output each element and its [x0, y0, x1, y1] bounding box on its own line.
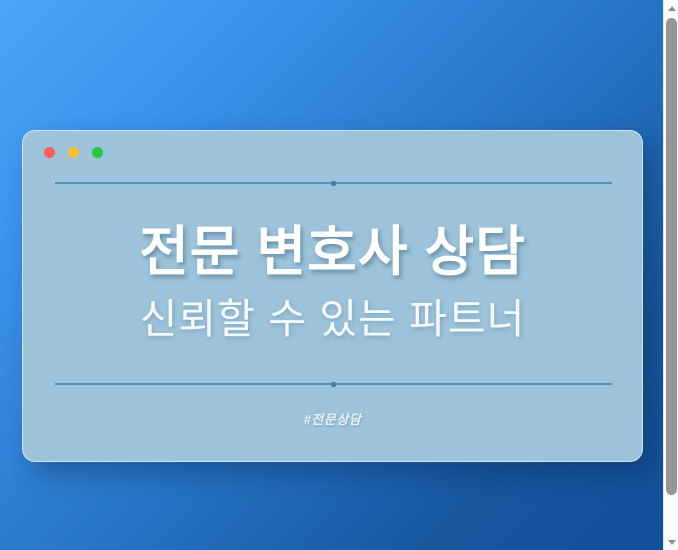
close-button-icon[interactable] — [44, 147, 55, 158]
divider-dot-icon — [331, 382, 336, 387]
vertical-scrollbar[interactable] — [663, 0, 678, 550]
scrollbar-thumb[interactable] — [666, 18, 677, 495]
page-viewport: 전문 변호사 상담 신뢰할 수 있는 파트너 #전문상담 — [0, 0, 678, 550]
browser-window-card: 전문 변호사 상담 신뢰할 수 있는 파트너 #전문상담 — [22, 130, 643, 462]
scroll-up-arrow-icon[interactable] — [664, 0, 678, 16]
page-title: 전문 변호사 상담 — [139, 223, 526, 281]
hashtag-label: #전문상담 — [23, 409, 642, 428]
page-subtitle: 신뢰할 수 있는 파트너 — [140, 297, 526, 342]
scroll-down-arrow-icon[interactable] — [664, 534, 678, 550]
divider-bottom — [55, 383, 612, 385]
gradient-background: 전문 변호사 상담 신뢰할 수 있는 파트너 #전문상담 — [0, 0, 663, 550]
card-text-block: 전문 변호사 상담 신뢰할 수 있는 파트너 — [23, 182, 642, 383]
window-controls — [44, 147, 103, 158]
minimize-button-icon[interactable] — [68, 147, 79, 158]
maximize-button-icon[interactable] — [92, 147, 103, 158]
